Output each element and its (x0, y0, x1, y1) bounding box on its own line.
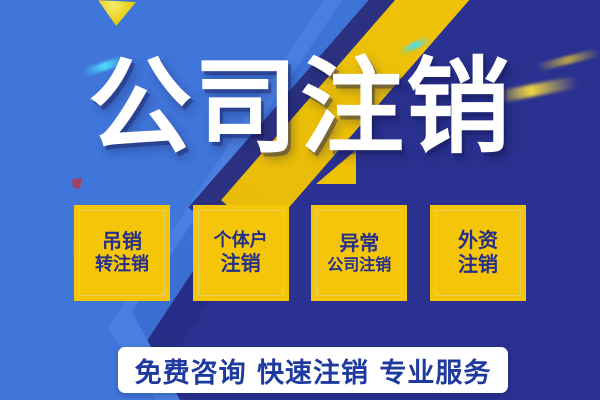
feature-box-1-inner: 吊销 转注销 (79, 210, 165, 296)
bottom-cta-text: 免费咨询 快速注销 专业服务 (135, 351, 492, 390)
feature-box-1[interactable]: 吊销 转注销 (76, 207, 168, 299)
feature-box-4-line-1: 外资 (458, 230, 498, 252)
feature-box-1-line-2: 转注销 (95, 255, 149, 274)
feature-box-4[interactable]: 外资 注销 (432, 207, 524, 299)
page-title: 公司注销 (0, 55, 600, 159)
feature-box-3-line-1: 异常 (339, 233, 379, 255)
feature-box-2-line-2: 注销 (221, 253, 261, 275)
feature-box-3[interactable]: 异常 公司注销 (313, 207, 405, 299)
feature-box-4-line-2: 注销 (458, 254, 498, 276)
feature-box-2-inner: 个体户 注销 (198, 210, 284, 296)
feature-box-1-line-1: 吊销 (102, 231, 142, 253)
promo-banner: 公司注销 吊销 转注销 个体户 注销 异常 公司注销 外资 注销 (0, 0, 600, 400)
feature-box-group: 吊销 转注销 个体户 注销 异常 公司注销 外资 注销 (76, 207, 524, 299)
feature-box-3-inner: 异常 公司注销 (316, 210, 402, 296)
feature-box-3-line-2: 公司注销 (327, 256, 391, 273)
feature-box-4-inner: 外资 注销 (435, 210, 521, 296)
bottom-cta-bar[interactable]: 免费咨询 快速注销 专业服务 (118, 347, 508, 393)
feature-box-2[interactable]: 个体户 注销 (195, 207, 287, 299)
feature-box-2-line-1: 个体户 (214, 231, 268, 250)
